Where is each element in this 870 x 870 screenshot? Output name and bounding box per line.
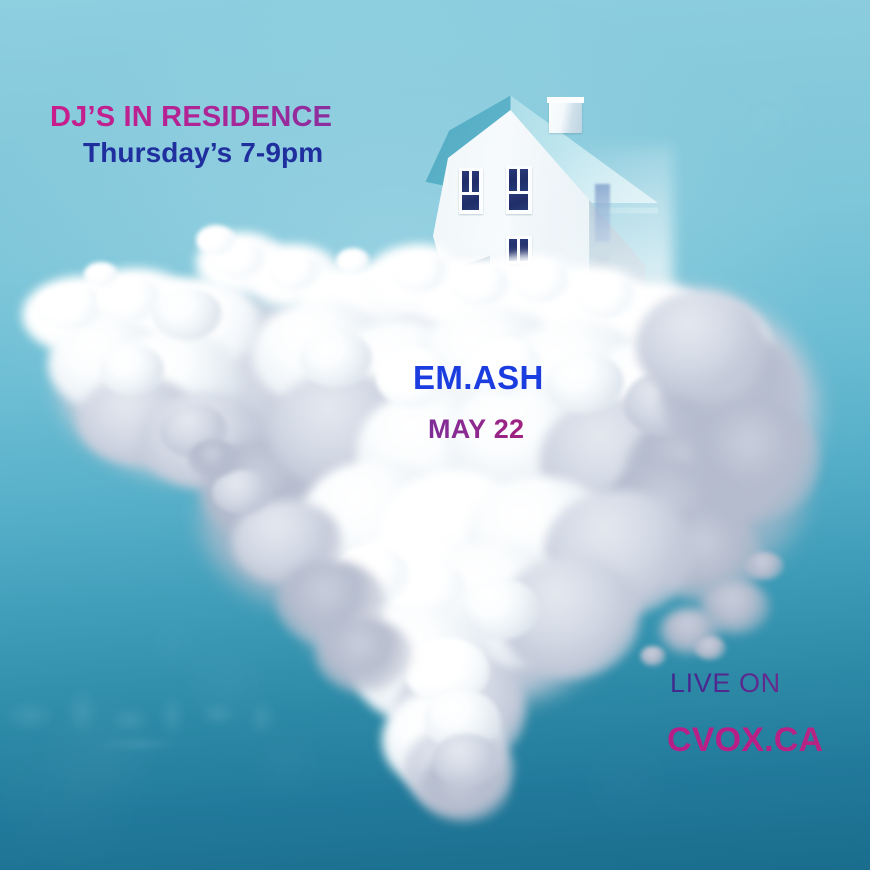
window-pane (509, 194, 528, 210)
event-date: MAY 22 (428, 414, 524, 445)
small-white-house-on-cloud (408, 88, 658, 288)
window-pane (509, 239, 517, 261)
house-window-lower-middle (506, 236, 532, 284)
window-pane (509, 169, 517, 191)
house-window-upper-middle (506, 166, 532, 214)
window-pane (520, 239, 528, 261)
house-cloud-haze-overlay (558, 146, 673, 291)
window-pane (520, 169, 528, 191)
live-on-label: LIVE ON (670, 668, 781, 699)
house-chimney (549, 99, 582, 133)
window-pane (462, 171, 469, 192)
artist-name: EM.ASH (413, 359, 544, 397)
window-pane (509, 264, 528, 280)
window-pane (472, 171, 479, 192)
window-pane (462, 195, 479, 210)
page-title: DJ’S IN RESIDENCE (50, 101, 332, 134)
poster-canvas: DJ’S IN RESIDENCE Thursday’s 7-9pm EM.AS… (0, 0, 870, 870)
faint-handwriting-watermark (0, 672, 320, 792)
house-window-upper-left (459, 168, 483, 214)
station-url: CVOX.CA (667, 721, 823, 760)
schedule-subtitle: Thursday’s 7-9pm (83, 137, 323, 169)
house-chimney-cap (547, 97, 584, 103)
